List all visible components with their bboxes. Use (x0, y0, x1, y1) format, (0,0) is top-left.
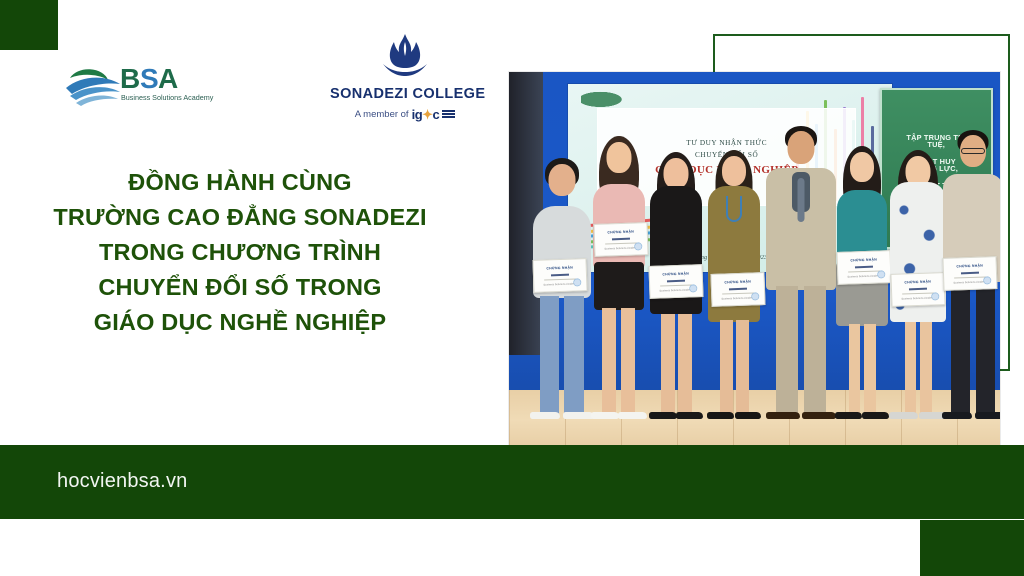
headline-line-3: TRONG CHƯƠNG TRÌNH (0, 235, 480, 270)
person-3: CHỨNG NHẬNBusiness Solutions Academy (646, 152, 706, 418)
certificate-5: CHỨNG NHẬNBusiness Solutions Academy (836, 250, 891, 285)
person-1-shoe-left (530, 412, 560, 419)
person-2-shoe-left (591, 412, 620, 419)
person-5-legs (775, 286, 827, 418)
headline-line-5: GIÁO DỤC NGHỀ NGHIỆP (0, 305, 480, 340)
person-4-shoe-left (707, 412, 734, 419)
svg-text:A: A (158, 63, 178, 94)
svg-text:B: B (120, 63, 139, 94)
sonadezi-name: SONADEZI COLLEGE (330, 87, 480, 102)
person-4-lanyard (726, 196, 742, 222)
group-award-photo: TƯ DUY NHẬN THỨC CHUYỂN ĐỔI SỐ GIÁO DỤC … (509, 72, 1000, 465)
person-2-head (606, 142, 631, 173)
certificate-4: CHỨNG NHẬNBusiness Solutions Academy (711, 272, 766, 307)
person-5-shoe-left (766, 412, 800, 419)
person-6: CHỨNG NHẬNBusiness Solutions Academy (833, 146, 891, 418)
person-6-legs (848, 324, 876, 418)
person-5-head (788, 131, 815, 164)
person-6-shoe-right (862, 412, 889, 419)
person-4-shoe-right (735, 412, 762, 419)
headline-line-4: CHUYỂN ĐỔI SỐ TRONG (0, 270, 480, 305)
corner-block-top-left (0, 0, 58, 50)
person-3-head (664, 158, 689, 189)
person-4: CHỨNG NHẬNBusiness Solutions Academy (705, 150, 763, 418)
igc-wordmark: ig✦c (412, 107, 440, 123)
person-8-shoe-right (975, 412, 1000, 419)
bsa-swoosh-logo: B S A Business Solutions Academy (64, 58, 224, 110)
person-3-shoe-right (676, 412, 704, 419)
person-7: CHỨNG NHẬNBusiness Solutions Academy (887, 150, 949, 418)
person-3-legs (660, 314, 692, 418)
certificate-7: CHỨNG NHẬNBusiness Solutions Academy (943, 256, 998, 291)
person-8-legs (950, 278, 996, 418)
person-8-shoe-left (942, 412, 971, 419)
certificate-3: CHỨNG NHẬNBusiness Solutions Academy (649, 264, 704, 299)
person-7-legs (904, 322, 932, 418)
certificate-1: CHỨNG NHẬNBusiness Solutions Academy (532, 258, 587, 293)
person-4-head (722, 156, 746, 186)
corner-block-bottom-right (920, 520, 1024, 576)
headline-line-1: ĐỒNG HÀNH CÙNG (0, 165, 480, 200)
page-title: ĐỒNG HÀNH CÙNG TRƯỜNG CAO ĐẲNG SONADEZI … (0, 165, 480, 340)
person-1: CHỨNG NHẬNBusiness Solutions Academy (529, 158, 595, 418)
certificate-2: CHỨNG NHẬNBusiness Solutions Academy (593, 222, 648, 257)
slide-canvas: B S A Business Solutions Academy SONADEZ… (0, 0, 1024, 576)
person-8: CHỨNG NHẬNBusiness Solutions Academy (941, 130, 1000, 418)
person-6-head (850, 152, 874, 182)
sonadezi-flame-icon (330, 30, 480, 80)
person-1-head (548, 164, 575, 196)
member-prefix: A member of (355, 109, 409, 120)
person-6-shoe-left (835, 412, 862, 419)
website-url: hocvienbsa.vn (57, 470, 187, 493)
person-1-legs (539, 296, 585, 418)
sonadezi-member-line: A member of ig✦c (330, 107, 480, 123)
person-2-skirt (594, 262, 644, 310)
igc-bars-icon (442, 110, 455, 119)
svg-text:Business Solutions Academy: Business Solutions Academy (121, 93, 214, 102)
person-4-legs (719, 320, 749, 418)
person-2: CHỨNG NHẬNBusiness Solutions Academy (588, 136, 650, 418)
person-5-tie (798, 178, 805, 222)
svg-text:S: S (140, 63, 158, 94)
person-2-shoe-right (618, 412, 647, 419)
certificate-6: CHỨNG NHẬNBusiness Solutions Academy (891, 272, 946, 307)
sonadezi-college-logo: SONADEZI COLLEGE A member of ig✦c (330, 30, 480, 122)
person-5-shoe-right (802, 412, 836, 419)
person-8-glasses-icon (961, 148, 985, 154)
slide-line-1: TƯ DUY NHẬN THỨC (686, 139, 767, 147)
person-5 (764, 126, 838, 418)
headline-line-2: TRƯỜNG CAO ĐẲNG SONADEZI (0, 200, 480, 235)
person-2-legs (602, 308, 636, 418)
person-7-shoe-left (889, 412, 918, 419)
person-3-shoe-left (649, 412, 677, 419)
